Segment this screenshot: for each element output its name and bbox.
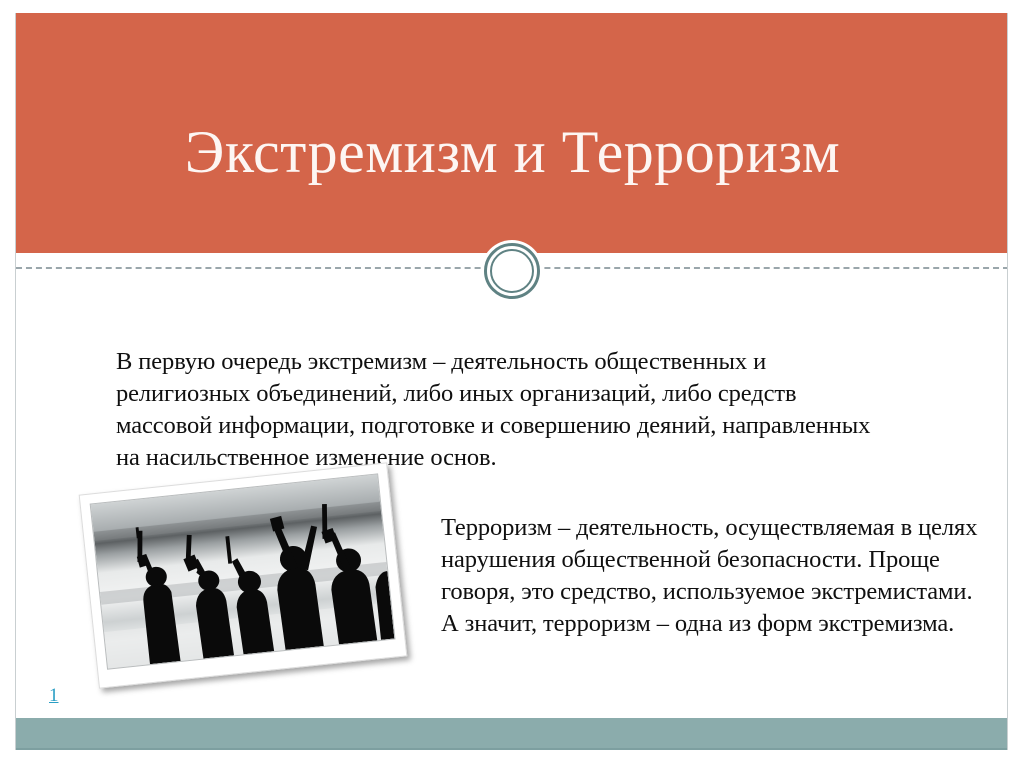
slide-content-frame: Экстремизм и Терроризм В первую очередь … [15,13,1008,750]
armed-silhouettes-image [90,473,396,669]
footer-bar [16,718,1008,750]
slide-photo [79,462,408,688]
photo-frame [79,462,408,688]
presentation-slide: Экстремизм и Терроризм В первую очередь … [0,0,1024,767]
paragraph-terrorism-definition: Терроризм – деятельность, осуществляемая… [441,512,986,640]
paragraph-extremism-definition: В первую очередь экстремизм – деятельнос… [116,346,878,474]
ornament-inner-ring [490,249,534,293]
slide-number[interactable]: 1 [49,686,59,705]
circle-ornament-icon [481,240,543,302]
